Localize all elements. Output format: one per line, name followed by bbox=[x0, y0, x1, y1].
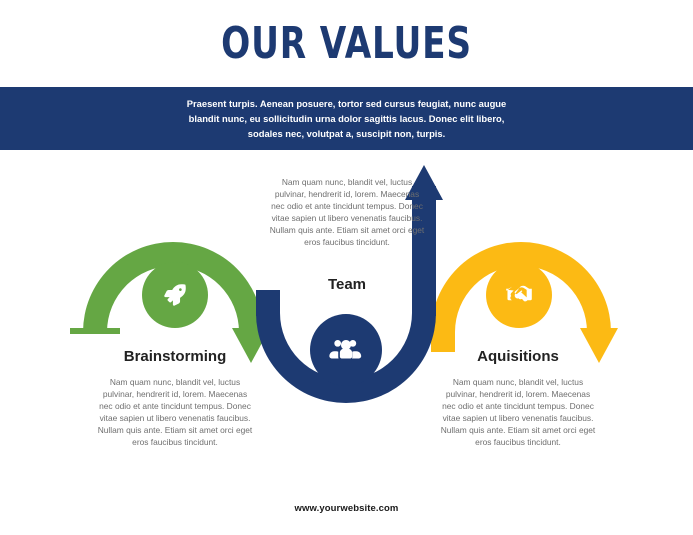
brainstorming-icon-badge bbox=[142, 262, 208, 328]
aquisitions-description: Nam quam nunc, blandit vel, luctus pulvi… bbox=[438, 376, 598, 449]
team-description: Nam quam nunc, blandit vel, luctus pulvi… bbox=[267, 176, 427, 249]
navy-arc-left-shaft bbox=[256, 290, 280, 316]
aquisitions-heading: Aquisitions bbox=[418, 348, 618, 365]
team-icon-badge bbox=[310, 314, 382, 386]
brainstorming-heading: Brainstorming bbox=[75, 348, 275, 365]
intro-banner-text: Praesent turpis. Aenean posuere, tortor … bbox=[172, 96, 522, 141]
infographic-poster: OUR VALUES Praesent turpis. Aenean posue… bbox=[0, 0, 693, 535]
aquisitions-icon-badge bbox=[486, 262, 552, 328]
footer-website: www.yourwebsite.com bbox=[0, 503, 693, 514]
brainstorming-description: Nam quam nunc, blandit vel, luctus pulvi… bbox=[95, 376, 255, 449]
intro-banner: Praesent turpis. Aenean posuere, tortor … bbox=[0, 87, 693, 150]
team-heading: Team bbox=[247, 276, 447, 293]
page-title: OUR VALUES bbox=[76, 16, 617, 72]
